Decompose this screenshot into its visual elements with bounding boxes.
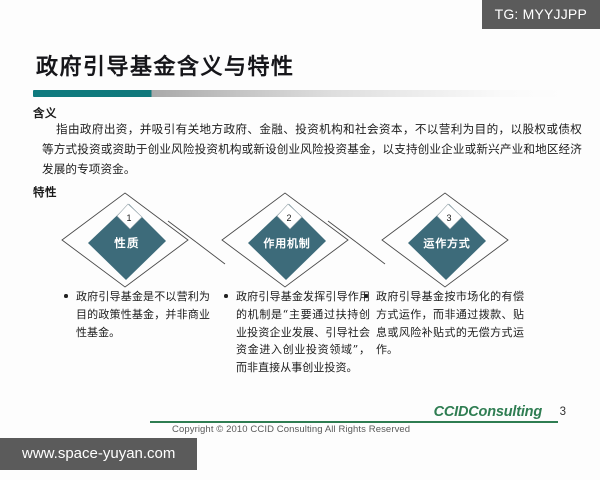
node-1-number: 1 bbox=[126, 213, 131, 223]
brand-logo-text: CCIDConsulting bbox=[434, 404, 542, 420]
bullet-column-1: 政府引导基金是不以营利为目的政策性基金，并非商业性基金。 bbox=[62, 288, 210, 341]
copyright-notice: Copyright © 2010 CCID Consulting All Rig… bbox=[172, 424, 410, 435]
page-number: 3 bbox=[560, 406, 566, 418]
diagram-node-2[interactable]: 2 作用机制 bbox=[222, 193, 348, 287]
site-watermark: www.space-yuyan.com bbox=[0, 438, 197, 470]
bullet-item: 政府引导基金发挥引导作用的机制是“主要通过扶持创业投资企业发展、引导社会资金进入… bbox=[222, 288, 370, 377]
title-accent-bar bbox=[33, 90, 563, 97]
diamond-chain-svg: 1 性质 2 作用机制 3 运作方式 bbox=[0, 188, 600, 293]
meaning-paragraph: 指由政府出资，并吸引有关地方政府、金融、投资机构和社会资本，不以营利为目的，以股… bbox=[42, 120, 582, 180]
bullet-columns: 政府引导基金是不以营利为目的政策性基金，并非商业性基金。 政府引导基金发挥引导作… bbox=[0, 288, 600, 398]
diagram-node-3[interactable]: 3 运作方式 bbox=[382, 193, 508, 287]
bullet-item: 政府引导基金是不以营利为目的政策性基金，并非商业性基金。 bbox=[62, 288, 210, 341]
node-3-label: 运作方式 bbox=[423, 236, 470, 250]
diamond-chain-diagram: 1 性质 2 作用机制 3 运作方式 bbox=[0, 188, 600, 293]
node-3-number: 3 bbox=[446, 213, 451, 223]
connector-2-3-upper bbox=[328, 221, 356, 242]
connector-1-2-upper bbox=[168, 221, 196, 242]
footer-divider bbox=[150, 421, 558, 423]
bullet-column-2: 政府引导基金发挥引导作用的机制是“主要通过扶持创业投资企业发展、引导社会资金进入… bbox=[222, 288, 370, 377]
section-label-meaning: 含义 bbox=[33, 105, 57, 121]
slide-canvas: TG: MYYJJPP 政府引导基金含义与特性 含义 指由政府出资，并吸引有关地… bbox=[0, 0, 600, 480]
node-2-label: 作用机制 bbox=[263, 236, 310, 250]
connector-1-2-lower bbox=[196, 242, 225, 264]
bullet-column-3: 政府引导基金按市场化的有偿方式运作，而非通过拨款、贴息或风险补贴式的无偿方式运作… bbox=[362, 288, 524, 359]
page-title: 政府引导基金含义与特性 bbox=[36, 49, 295, 81]
bullet-item: 政府引导基金按市场化的有偿方式运作，而非通过拨款、贴息或风险补贴式的无偿方式运作… bbox=[362, 288, 524, 359]
node-2-number: 2 bbox=[286, 213, 291, 223]
connector-2-3-lower bbox=[356, 242, 385, 264]
node-1-label: 性质 bbox=[114, 236, 139, 250]
diagram-node-1[interactable]: 1 性质 bbox=[62, 193, 188, 287]
telegram-watermark-badge: TG: MYYJJPP bbox=[482, 0, 600, 29]
